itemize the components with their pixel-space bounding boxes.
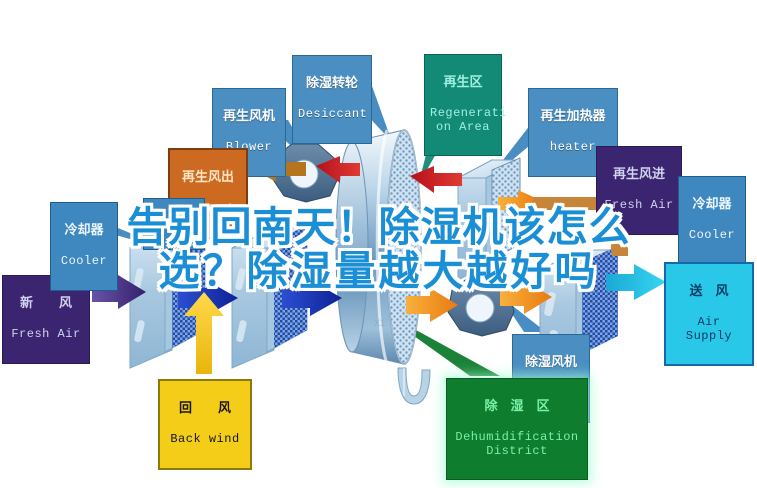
label-regeneration-fresh-air-in[interactable]: 再生风进 Fresh Air xyxy=(596,146,682,235)
label-back-wind-en: Back wind xyxy=(165,433,245,446)
label-cooler-left[interactable]: 冷却器 Cooler xyxy=(50,202,118,291)
label-air-supply-en: Air Supply xyxy=(671,316,747,343)
label-cooler-right-cn: 冷却器 xyxy=(684,197,740,212)
label-exhaust-cn: 再生风出 xyxy=(175,170,241,185)
label-dehumidification-district[interactable]: 除 湿 区 Dehumidification District xyxy=(446,378,588,480)
label-desiccant-wheel[interactable]: 除湿转轮 Desiccant xyxy=(292,55,372,144)
label-desiccant-wheel-cn: 除湿转轮 xyxy=(298,76,366,91)
label-regeneration-fresh-air-in-en: Fresh Air xyxy=(602,199,676,212)
label-regeneration-area-cn: 再生区 xyxy=(430,75,496,90)
heater-block xyxy=(458,158,520,280)
label-dehumidification-district-cn: 除 湿 区 xyxy=(452,399,582,414)
label-desiccant-wheel-en: Desiccant xyxy=(298,108,366,121)
label-cooler-mid-cn: 冷却器 xyxy=(148,218,200,230)
dehumidification-fan xyxy=(448,278,514,336)
svg-text:X1: X1 xyxy=(374,318,385,328)
label-regeneration-fresh-air-in-cn: 再生风进 xyxy=(602,167,676,182)
label-regeneration-heater-cn: 再生加热器 xyxy=(534,109,612,124)
condensate-drain xyxy=(398,368,430,404)
label-cooler-left-en: Cooler xyxy=(56,255,112,268)
label-dehumidification-blower-cn: 除湿风机 xyxy=(518,355,584,370)
label-dehumidification-district-en: Dehumidification District xyxy=(452,431,582,458)
label-regeneration-area[interactable]: 再生区 Regenerati on Area xyxy=(424,54,502,156)
label-fresh-air-in-en: Fresh Air xyxy=(8,328,84,341)
label-cooler-mid[interactable]: 冷却器 xyxy=(143,198,205,250)
label-air-supply-cn: 送 风 xyxy=(671,284,747,299)
label-back-wind[interactable]: 回 风 Back wind xyxy=(158,379,252,470)
label-air-supply[interactable]: 送 风 Air Supply xyxy=(664,262,754,366)
label-cooler-right[interactable]: 冷却器 Cooler xyxy=(678,176,746,265)
label-regeneration-blower-cn: 再生风机 xyxy=(218,109,280,124)
label-regeneration-area-en: Regenerati on Area xyxy=(430,107,496,134)
label-cooler-right-en: Cooler xyxy=(684,229,740,242)
label-cooler-left-cn: 冷却器 xyxy=(56,223,112,238)
diagram-canvas: X1 xyxy=(0,0,757,488)
label-fresh-air-in-cn: 新 风 xyxy=(8,296,84,311)
label-back-wind-cn: 回 风 xyxy=(165,401,245,416)
